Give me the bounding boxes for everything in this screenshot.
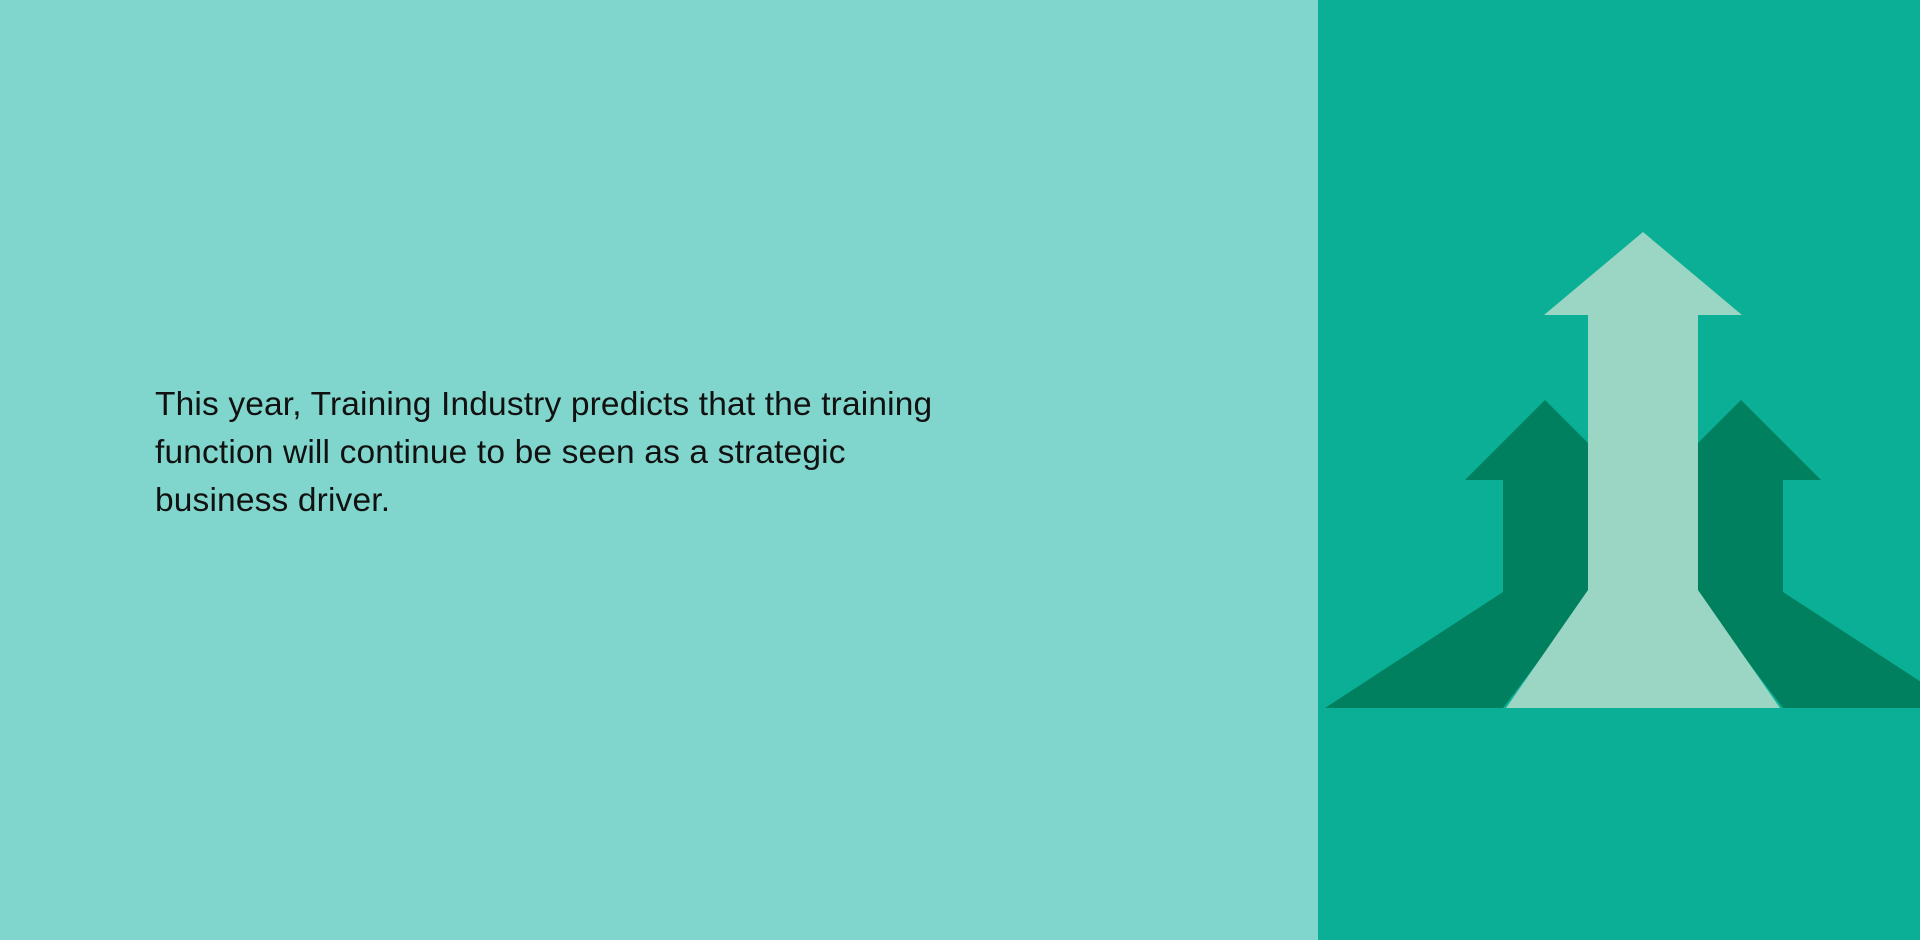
rising-arrows-svg <box>1318 0 1920 940</box>
slide-root: This year, Training Industry predicts th… <box>0 0 1920 940</box>
quote-line-2: function will continue to be seen as a s… <box>155 429 1245 477</box>
quote-line-3: business driver. <box>155 477 1245 525</box>
left-text-panel: This year, Training Industry predicts th… <box>0 0 1318 940</box>
quote-line-1: This year, Training Industry predicts th… <box>155 381 1245 429</box>
rising-arrows-icon <box>1318 0 1920 940</box>
quote-block: This year, Training Industry predicts th… <box>155 381 1245 525</box>
right-graphic-panel <box>1318 0 1920 940</box>
